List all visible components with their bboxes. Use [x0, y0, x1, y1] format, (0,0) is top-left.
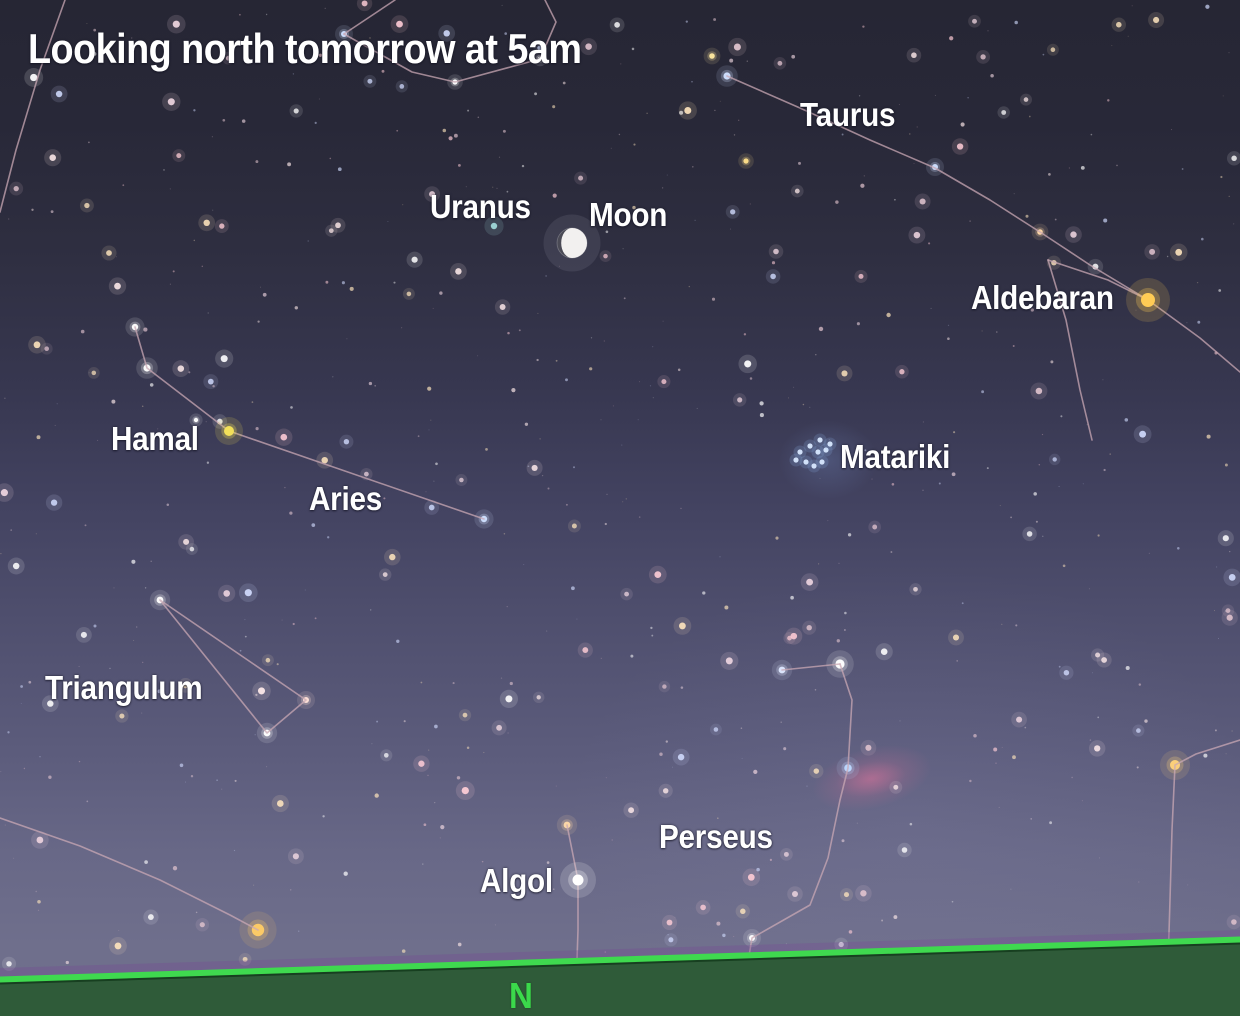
label-moon: Moon — [589, 196, 667, 234]
label-triangulum: Triangulum — [45, 669, 202, 707]
label-algol: Algol — [480, 862, 553, 900]
label-uranus: Uranus — [430, 188, 531, 226]
label-perseus: Perseus — [659, 818, 773, 856]
label-hamal: Hamal — [111, 420, 199, 458]
label-taurus: Taurus — [800, 96, 895, 134]
ground-and-horizon — [0, 0, 1240, 1016]
label-matariki: Matariki — [840, 438, 950, 476]
page-title: Looking north tomorrow at 5am — [28, 25, 581, 73]
sky-chart: Looking north tomorrow at 5am TaurusUran… — [0, 0, 1240, 1016]
compass-north-label: N — [509, 975, 533, 1016]
label-aldebaran: Aldebaran — [971, 279, 1114, 317]
label-aries: Aries — [309, 480, 382, 518]
